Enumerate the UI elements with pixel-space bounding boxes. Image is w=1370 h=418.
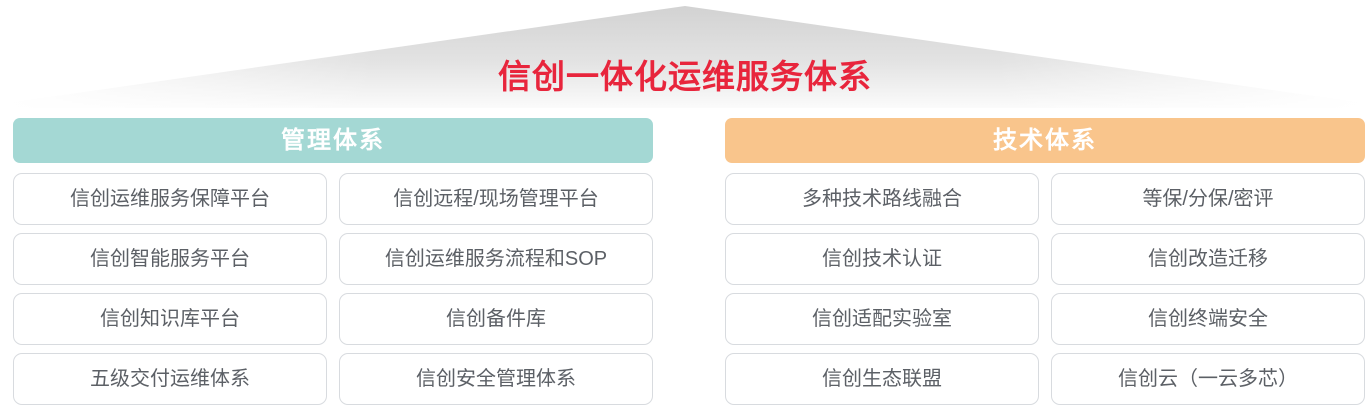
list-item[interactable]: 信创智能服务平台	[13, 233, 327, 285]
list-item[interactable]: 多种技术路线融合	[725, 173, 1039, 225]
diagram-canvas: 信创一体化运维服务体系 管理体系 信创运维服务保障平台 信创远程/现场管理平台 …	[0, 0, 1370, 418]
list-item[interactable]: 五级交付运维体系	[13, 353, 327, 405]
panel-header-technology: 技术体系	[725, 118, 1365, 163]
list-item[interactable]: 信创技术认证	[725, 233, 1039, 285]
panel-technology-grid: 多种技术路线融合 等保/分保/密评 信创技术认证 信创改造迁移 信创适配实验室 …	[725, 173, 1365, 405]
page-title: 信创一体化运维服务体系	[0, 56, 1370, 98]
panel-management: 管理体系 信创运维服务保障平台 信创远程/现场管理平台 信创智能服务平台 信创运…	[13, 118, 653, 405]
list-item[interactable]: 信创适配实验室	[725, 293, 1039, 345]
list-item[interactable]: 信创知识库平台	[13, 293, 327, 345]
list-item[interactable]: 信创云（一云多芯）	[1051, 353, 1365, 405]
list-item[interactable]: 等保/分保/密评	[1051, 173, 1365, 225]
list-item[interactable]: 信创终端安全	[1051, 293, 1365, 345]
panel-management-grid: 信创运维服务保障平台 信创远程/现场管理平台 信创智能服务平台 信创运维服务流程…	[13, 173, 653, 405]
list-item[interactable]: 信创远程/现场管理平台	[339, 173, 653, 225]
list-item[interactable]: 信创安全管理体系	[339, 353, 653, 405]
list-item[interactable]: 信创运维服务保障平台	[13, 173, 327, 225]
panel-header-management: 管理体系	[13, 118, 653, 163]
list-item[interactable]: 信创生态联盟	[725, 353, 1039, 405]
list-item[interactable]: 信创运维服务流程和SOP	[339, 233, 653, 285]
list-item[interactable]: 信创备件库	[339, 293, 653, 345]
list-item[interactable]: 信创改造迁移	[1051, 233, 1365, 285]
panel-technology: 技术体系 多种技术路线融合 等保/分保/密评 信创技术认证 信创改造迁移 信创适…	[725, 118, 1365, 405]
